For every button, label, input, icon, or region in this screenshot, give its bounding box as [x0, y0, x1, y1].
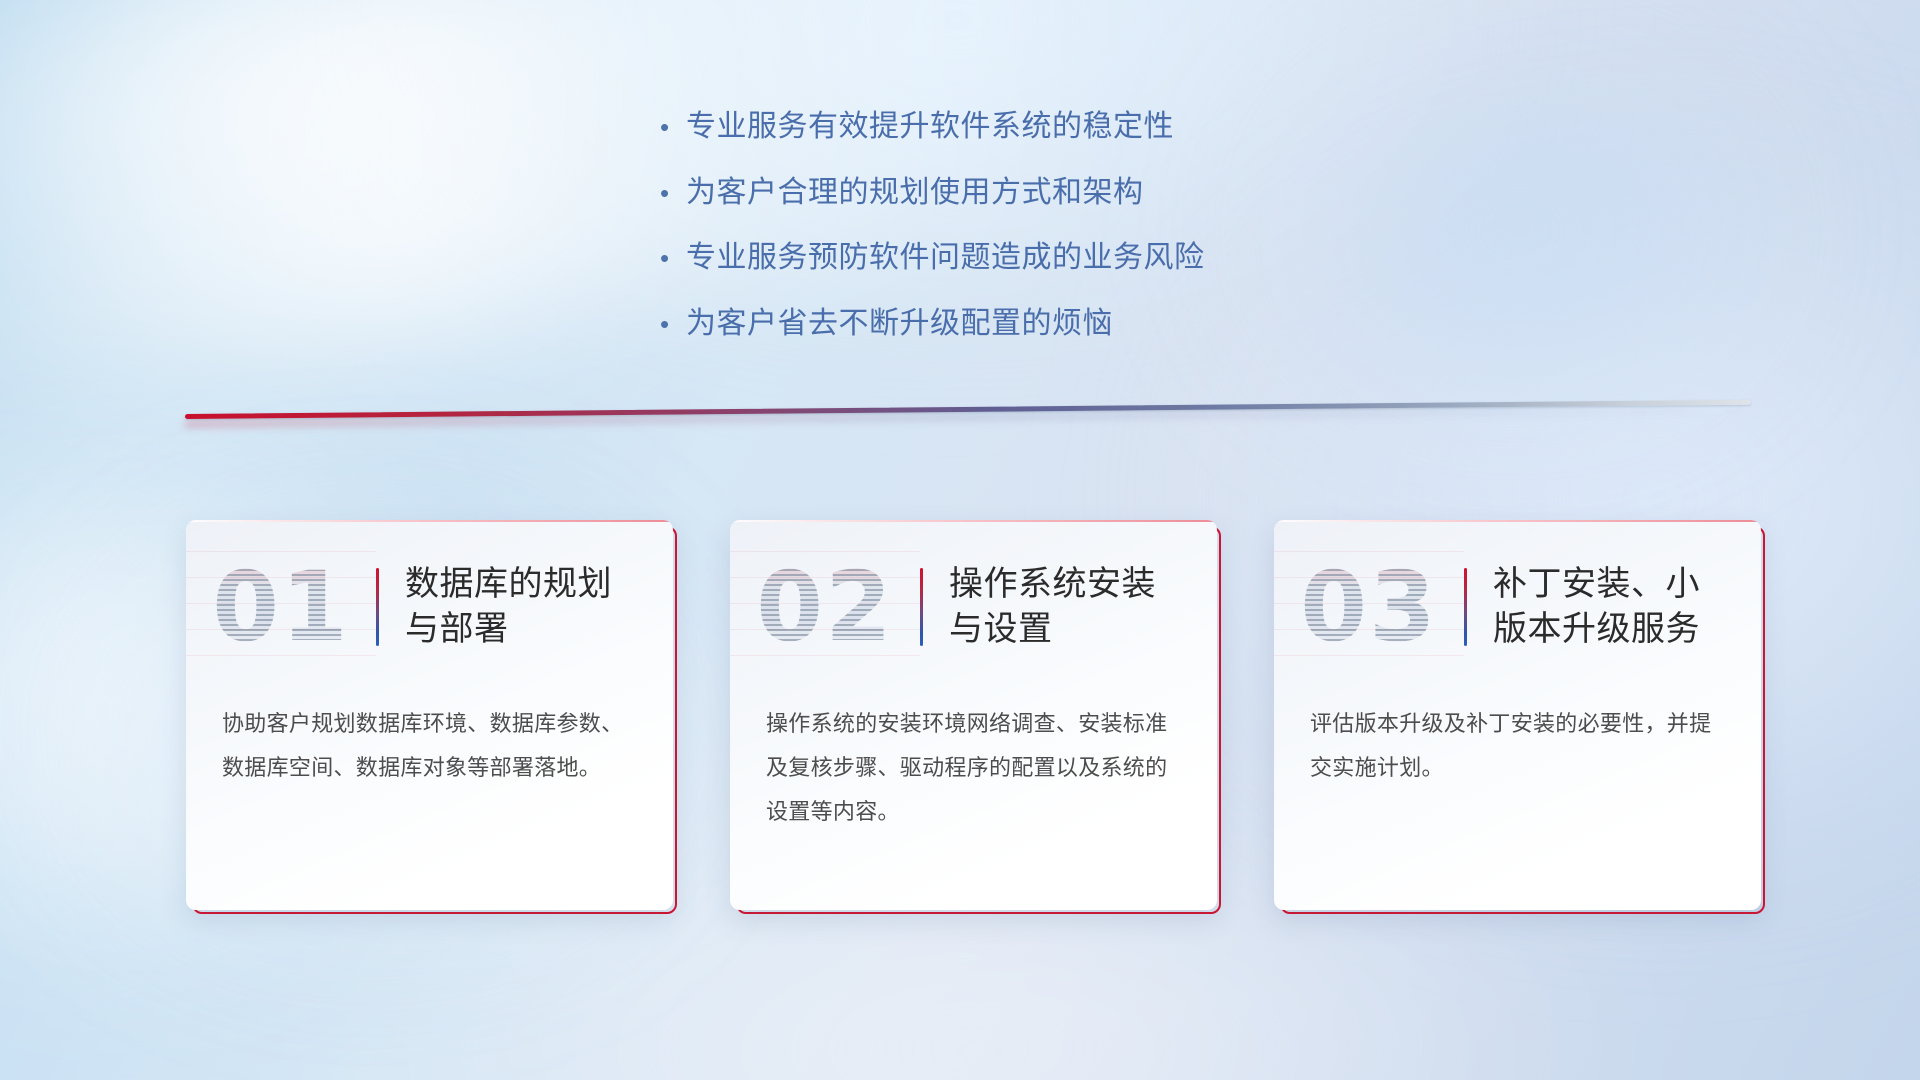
service-card-01[interactable]: 01 数据库的规划与部署 协助客户规划数据库环境、数据库参数、数据库空间、数据库… — [186, 520, 673, 910]
card-row: 01 数据库的规划与部署 协助客户规划数据库环境、数据库参数、数据库空间、数据库… — [186, 520, 1761, 910]
card-top-edge — [1274, 520, 1761, 522]
card-header: 02 操作系统安装与设置 — [730, 542, 1217, 672]
bullet-list: • 专业服务有效提升软件系统的稳定性 • 为客户合理的规划使用方式和架构 • 专… — [660, 108, 1205, 370]
card-body: 03 补丁安装、小版本升级服务 评估版本升级及补丁安装的必要性，并提交实施计划。 — [1274, 520, 1761, 910]
bullet-text: 专业服务预防软件问题造成的业务风险 — [686, 239, 1205, 277]
card-number-text: 01 — [212, 559, 350, 655]
card-title-divider-bar — [1464, 568, 1467, 646]
bullet-item: • 为客户合理的规划使用方式和架构 — [660, 174, 1205, 212]
bullet-marker-icon: • — [660, 180, 686, 206]
card-header: 01 数据库的规划与部署 — [186, 542, 673, 672]
background-bloom-upper-right — [1240, 40, 1800, 420]
card-body: 02 操作系统安装与设置 操作系统的安装环境网络调查、安装标准及复核步骤、驱动程… — [730, 520, 1217, 910]
card-header: 03 补丁安装、小版本升级服务 — [1274, 542, 1761, 672]
card-title: 补丁安装、小版本升级服务 — [1493, 562, 1725, 652]
card-number-text: 03 — [1300, 559, 1438, 655]
card-top-edge — [186, 520, 673, 522]
bullet-marker-icon: • — [660, 245, 686, 271]
bullet-marker-icon: • — [660, 311, 686, 337]
card-title: 操作系统安装与设置 — [949, 562, 1181, 652]
card-title-divider-bar — [376, 568, 379, 646]
bullet-item: • 为客户省去不断升级配置的烦恼 — [660, 305, 1205, 343]
service-card-03[interactable]: 03 补丁安装、小版本升级服务 评估版本升级及补丁安装的必要性，并提交实施计划。 — [1274, 520, 1761, 910]
card-number-text: 02 — [756, 559, 894, 655]
slide-canvas: • 专业服务有效提升软件系统的稳定性 • 为客户合理的规划使用方式和架构 • 专… — [0, 0, 1920, 1080]
card-number-watermark: 02 — [730, 551, 920, 663]
card-description: 协助客户规划数据库环境、数据库参数、数据库空间、数据库对象等部署落地。 — [222, 702, 645, 790]
card-description: 评估版本升级及补丁安装的必要性，并提交实施计划。 — [1310, 702, 1733, 790]
card-description: 操作系统的安装环境网络调查、安装标准及复核步骤、驱动程序的配置以及系统的设置等内… — [766, 702, 1189, 834]
card-number-watermark: 01 — [186, 551, 376, 663]
bullet-text: 专业服务有效提升软件系统的稳定性 — [686, 108, 1174, 146]
card-body: 01 数据库的规划与部署 协助客户规划数据库环境、数据库参数、数据库空间、数据库… — [186, 520, 673, 910]
bullet-item: • 专业服务预防软件问题造成的业务风险 — [660, 239, 1205, 277]
bullet-text: 为客户省去不断升级配置的烦恼 — [686, 305, 1113, 343]
section-divider — [185, 414, 1751, 440]
bullet-text: 为客户合理的规划使用方式和架构 — [686, 174, 1144, 212]
card-title: 数据库的规划与部署 — [405, 562, 637, 652]
card-top-edge — [730, 520, 1217, 522]
bullet-marker-icon: • — [660, 114, 686, 140]
card-title-divider-bar — [920, 568, 923, 646]
service-card-02[interactable]: 02 操作系统安装与设置 操作系统的安装环境网络调查、安装标准及复核步骤、驱动程… — [730, 520, 1217, 910]
card-number-watermark: 03 — [1274, 551, 1464, 663]
bullet-item: • 专业服务有效提升软件系统的稳定性 — [660, 108, 1205, 146]
